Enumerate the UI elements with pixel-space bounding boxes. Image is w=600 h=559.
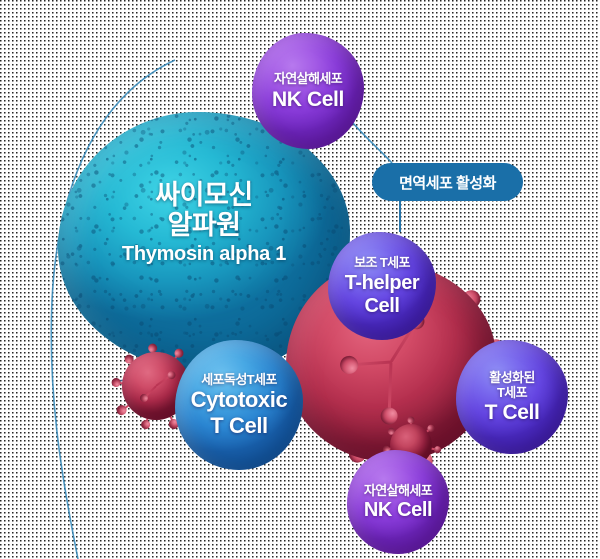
bubble-cytotoxic-ko: 세포독성T세포 [201, 372, 277, 387]
bubble-activated-t-cell[interactable]: 활성화된 T세포 T Cell [456, 340, 568, 454]
bubble-tcell-ko-line2: T세포 [497, 385, 527, 400]
bubble-nk-bottom-en: NK Cell [364, 499, 432, 521]
bubble-cytotoxic-en-line2: T Cell [210, 414, 268, 438]
bubble-thelper-en-line1: T-helper [345, 272, 420, 294]
bubble-nk-bottom-ko: 자연살해세포 [364, 483, 432, 498]
bubble-thelper-ko: 보조 T세포 [354, 255, 410, 270]
callout-label: 면역세포 활성화 [399, 172, 496, 193]
infographic-canvas: 싸이모신 알파원 Thymosin alpha 1 [0, 0, 600, 559]
bubble-thelper-en-line2: Cell [364, 295, 399, 317]
thymosin-en: Thymosin alpha 1 [58, 241, 350, 268]
thymosin-label: 싸이모신 알파원 Thymosin alpha 1 [58, 180, 350, 268]
bubble-nk-top-ko: 자연살해세포 [274, 71, 342, 86]
bubble-cytotoxic-en-line1: Cytotoxic [191, 388, 288, 412]
bubble-tcell-ko-line1: 활성화된 [489, 370, 534, 385]
thymosin-ko-line1: 싸이모신 [58, 180, 350, 210]
callout-immune-activation[interactable]: 면역세포 활성화 [372, 163, 523, 201]
connector-nk-to-callout [352, 122, 392, 163]
bubble-nk-cell-bottom[interactable]: 자연살해세포 NK Cell [347, 450, 449, 554]
bubble-nk-top-en: NK Cell [272, 88, 344, 111]
thymosin-ko-line2: 알파원 [58, 210, 350, 240]
bubble-tcell-en: T Cell [485, 401, 540, 424]
